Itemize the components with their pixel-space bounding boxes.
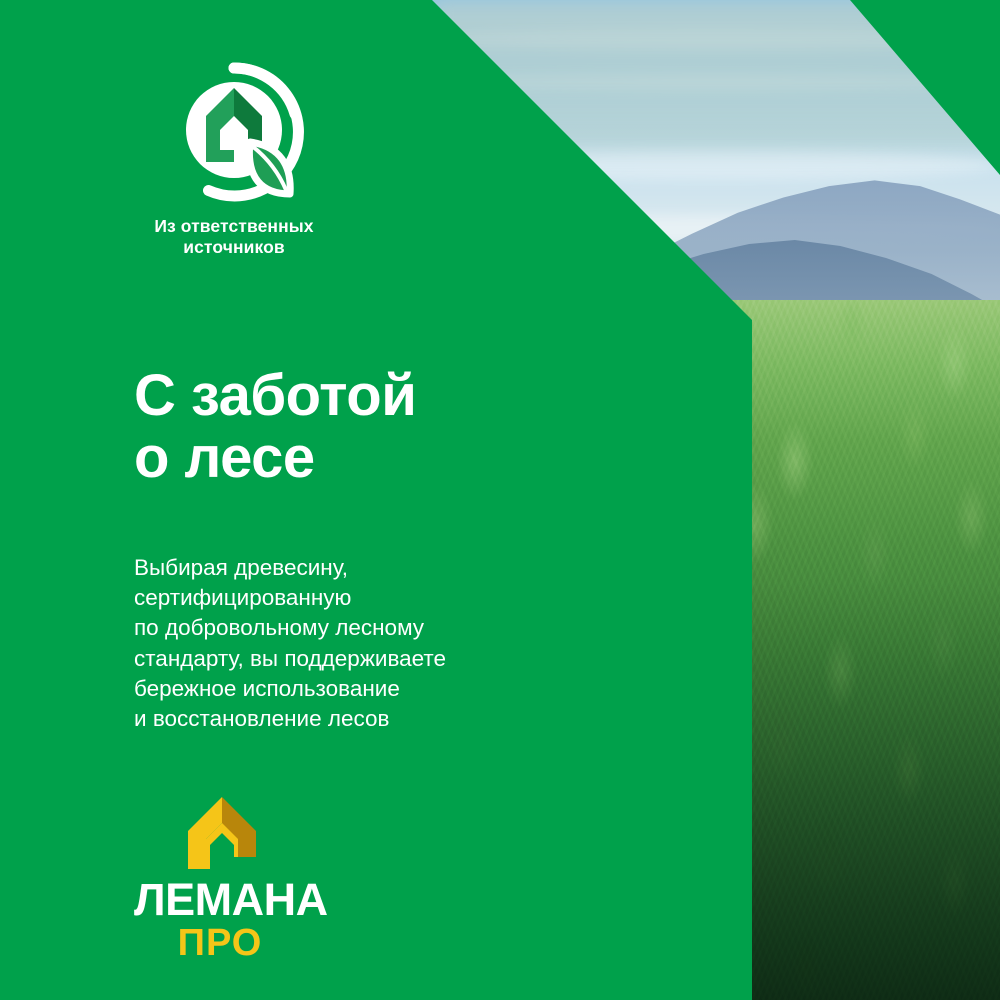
poster-root: Из ответственных источников С заботой о … [0, 0, 1000, 1000]
poster-content: Из ответственных источников С заботой о … [0, 0, 1000, 1000]
lemana-house-icon [176, 795, 268, 873]
brand-subname: ПРО [134, 924, 324, 962]
brand-name: ЛЕМАНА [134, 879, 324, 922]
badge-caption: Из ответственных источников [134, 216, 334, 258]
brand-lockup: ЛЕМАНА ПРО [134, 795, 324, 962]
page-title: С заботой о лесе [134, 365, 416, 490]
certification-badge: Из ответственных источников [134, 62, 334, 258]
body-copy: Выбирая древесину, сертифицированную по … [134, 553, 446, 735]
house-leaf-circle-emblem-icon [164, 62, 304, 202]
